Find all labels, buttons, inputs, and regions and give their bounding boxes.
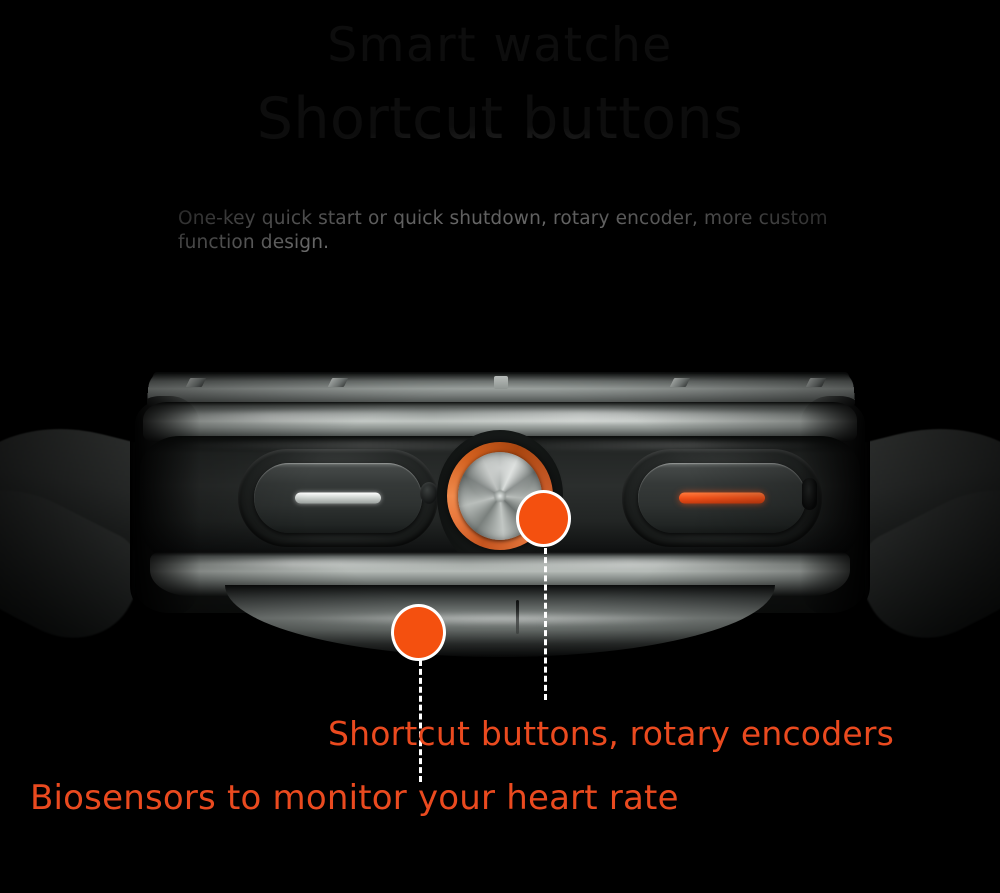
left-shortcut-button[interactable] <box>254 463 422 533</box>
callout-caption-biosensor: Biosensors to monitor your heart rate <box>30 778 679 818</box>
marker-dot-rotary-encoder[interactable] <box>516 490 571 547</box>
watch-product-photo <box>0 0 1000 893</box>
right-button-indicator-bar <box>679 493 765 504</box>
left-button-indicator-bar <box>295 493 381 504</box>
right-button-housing[interactable] <box>622 449 822 547</box>
case-shadow-right <box>800 396 870 616</box>
metal-band-lower-sheen <box>175 558 825 569</box>
product-marketing-image: Smart watche Shortcut buttons One-key qu… <box>0 0 1000 893</box>
metal-band-upper-sheen <box>160 410 840 423</box>
bezel-center-marker <box>494 376 508 389</box>
crown-center-hub <box>494 490 506 502</box>
leader-line-rotary-encoder <box>544 548 547 700</box>
speaker-port-icon <box>420 482 438 504</box>
right-shortcut-button[interactable] <box>638 463 806 533</box>
caseback-seam-line <box>516 600 519 634</box>
callout-caption-rotary-encoder: Shortcut buttons, rotary encoders <box>328 714 894 753</box>
marker-dot-biosensor[interactable] <box>391 604 446 661</box>
caseback-sheen <box>300 612 700 626</box>
left-button-housing[interactable] <box>238 449 438 547</box>
case-shadow-left <box>130 396 200 616</box>
